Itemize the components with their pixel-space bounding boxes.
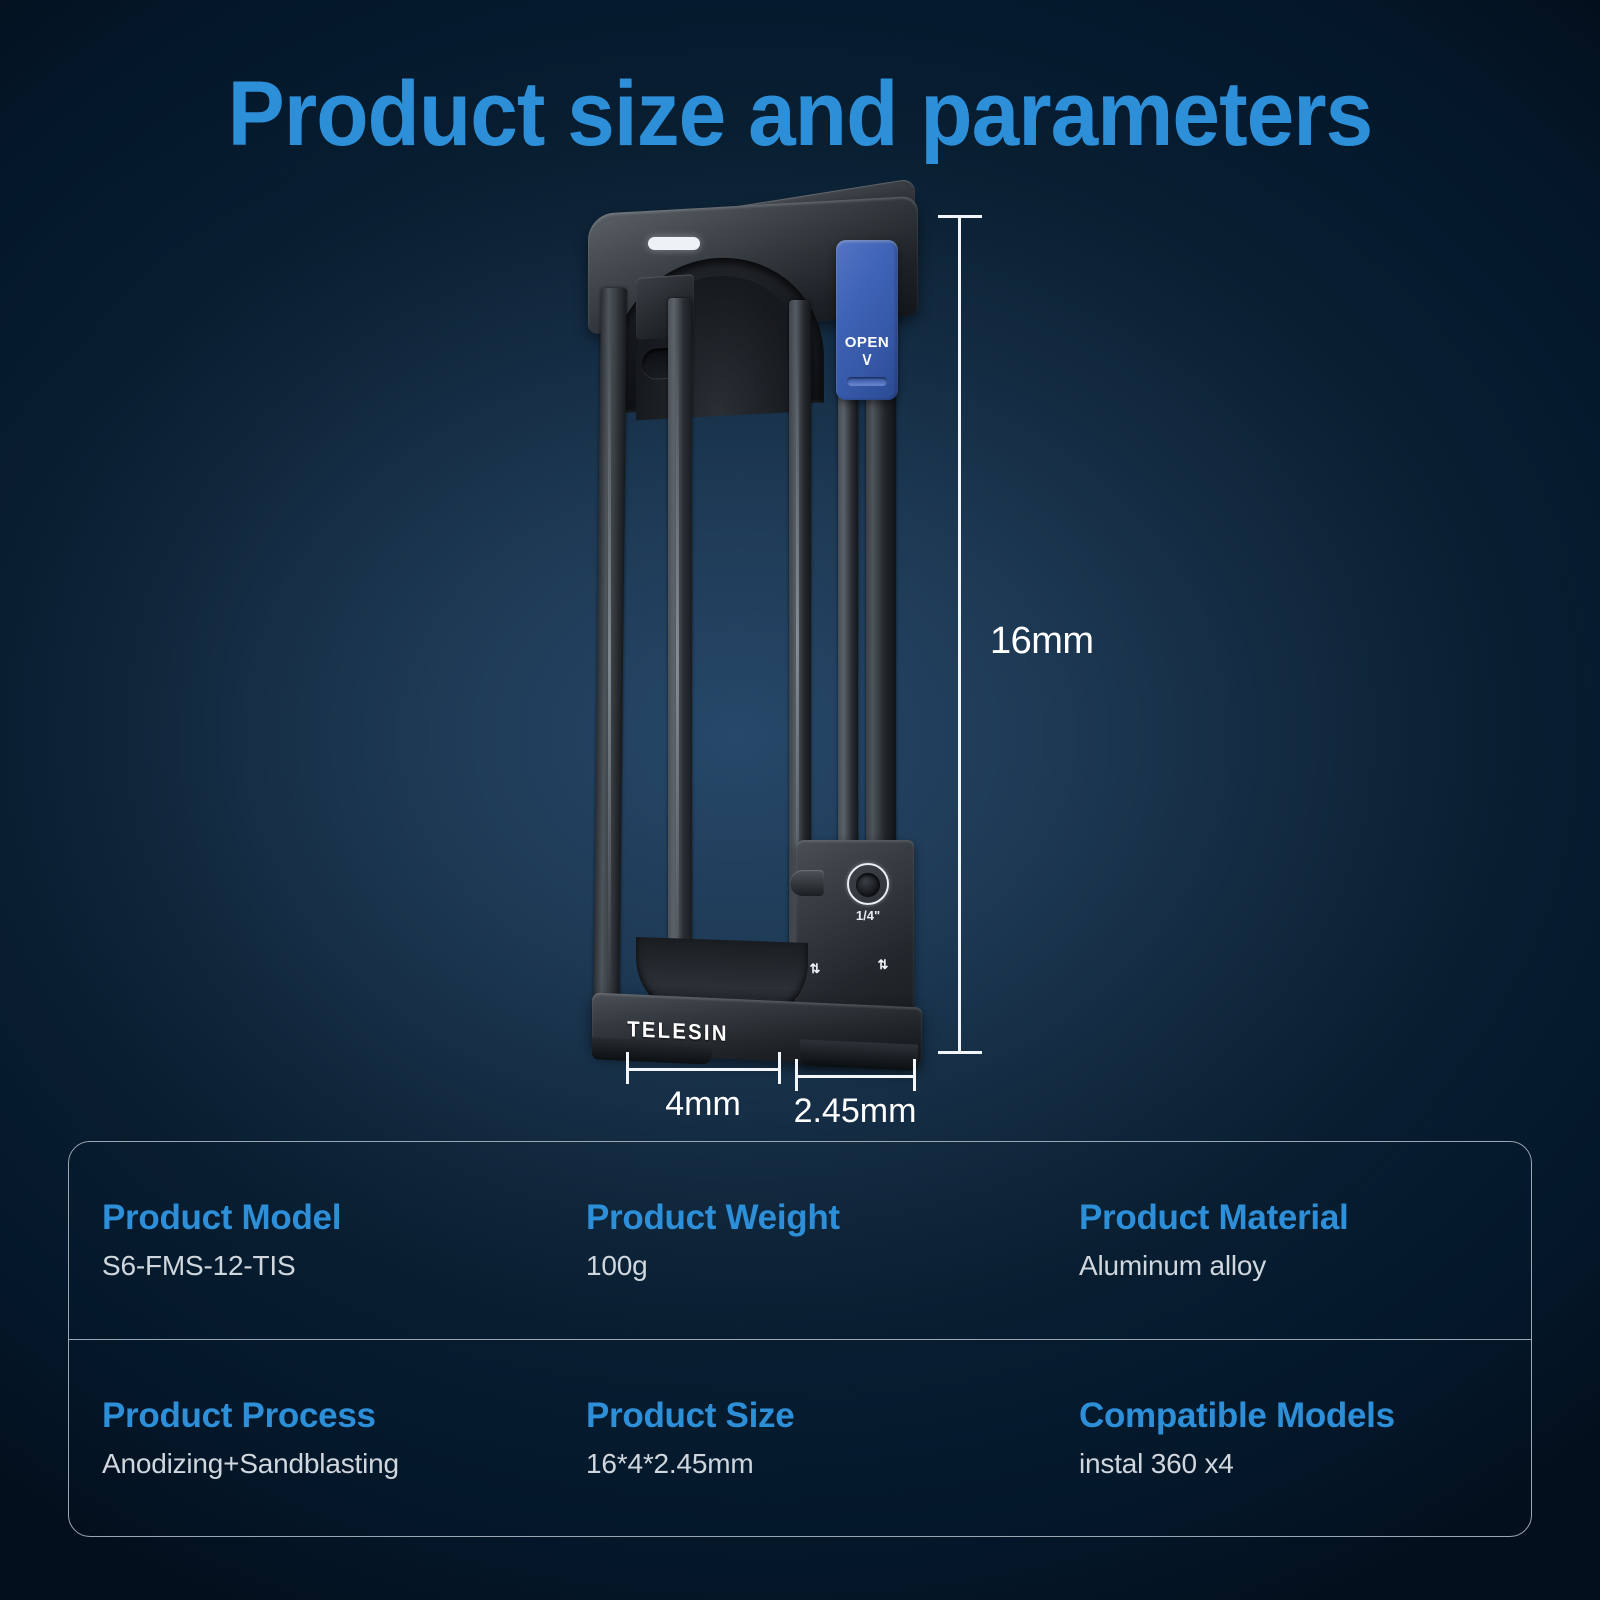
height-dimension-line [958,215,961,1053]
width-dimension-label: 4mm [626,1085,780,1124]
cage-foot-left [592,1037,712,1064]
spec-label: Product Process [102,1396,554,1436]
spec-cell-product-weight: Product Weight 100g [554,1142,1038,1339]
width-dimension-line [626,1068,780,1071]
side-tab [790,870,824,896]
spec-cell-product-size: Product Size 16*4*2.45mm [554,1340,1038,1537]
arrow-marker-left-icon: ⇅ [808,962,822,976]
rail-highlight-inner [676,340,679,980]
head-highlight-bar [648,237,700,250]
open-latch-button[interactable]: OPEN ∨ [836,240,898,400]
cage-rail-left-inner [668,298,692,1038]
spec-value: Aluminum alloy [1079,1250,1531,1282]
height-dimension-cap-bottom [938,1051,982,1054]
spec-value: 16*4*2.45mm [586,1448,1038,1480]
spec-cell-compatible-models: Compatible Models instal 360 x4 [1038,1340,1531,1537]
width-dimension-cap-right [778,1052,781,1084]
thread-hole [856,873,880,897]
chevron-down-icon: ∨ [860,354,874,366]
spec-value: 100g [586,1250,1038,1282]
spec-label: Product Model [102,1198,554,1238]
spec-cell-product-process: Product Process Anodizing+Sandblasting [69,1340,554,1537]
spec-value: S6-FMS-12-TIS [102,1250,554,1282]
depth-dimension-label: 2.45mm [780,1092,930,1131]
depth-dimension-cap-right [913,1059,916,1091]
height-dimension-label: 16mm [990,620,1094,663]
spec-label: Product Material [1079,1198,1531,1238]
spec-label: Product Weight [586,1198,1038,1238]
thread-size-label: 1/4" [840,908,896,923]
width-dimension-cap-left [626,1052,629,1084]
latch-slot [847,377,887,386]
page-title: Product size and parameters [56,62,1544,167]
cage-foot-right [800,1039,918,1070]
spec-label: Product Size [586,1396,1038,1436]
spec-cell-product-model: Product Model S6-FMS-12-TIS [69,1142,554,1339]
spec-row: Product Process Anodizing+Sandblasting P… [69,1340,1531,1537]
specifications-card: Product Model S6-FMS-12-TIS Product Weig… [68,1141,1532,1537]
product-figure: OPEN ∨ 1/4" ⇅ ⇅ TELESIN 16mm 4mm 2.45mm [0,180,1600,1140]
arrow-marker-right-icon: ⇅ [876,958,890,972]
depth-dimension-cap-left [795,1059,798,1091]
spec-row: Product Model S6-FMS-12-TIS Product Weig… [69,1142,1531,1340]
spec-value: instal 360 x4 [1079,1448,1531,1480]
spec-label: Compatible Models [1079,1396,1531,1436]
height-dimension-cap-top [938,215,982,218]
depth-dimension-line [795,1075,915,1078]
spec-cell-product-material: Product Material Aluminum alloy [1038,1142,1531,1339]
spec-value: Anodizing+Sandblasting [102,1448,554,1480]
rail-highlight-left [608,330,611,990]
